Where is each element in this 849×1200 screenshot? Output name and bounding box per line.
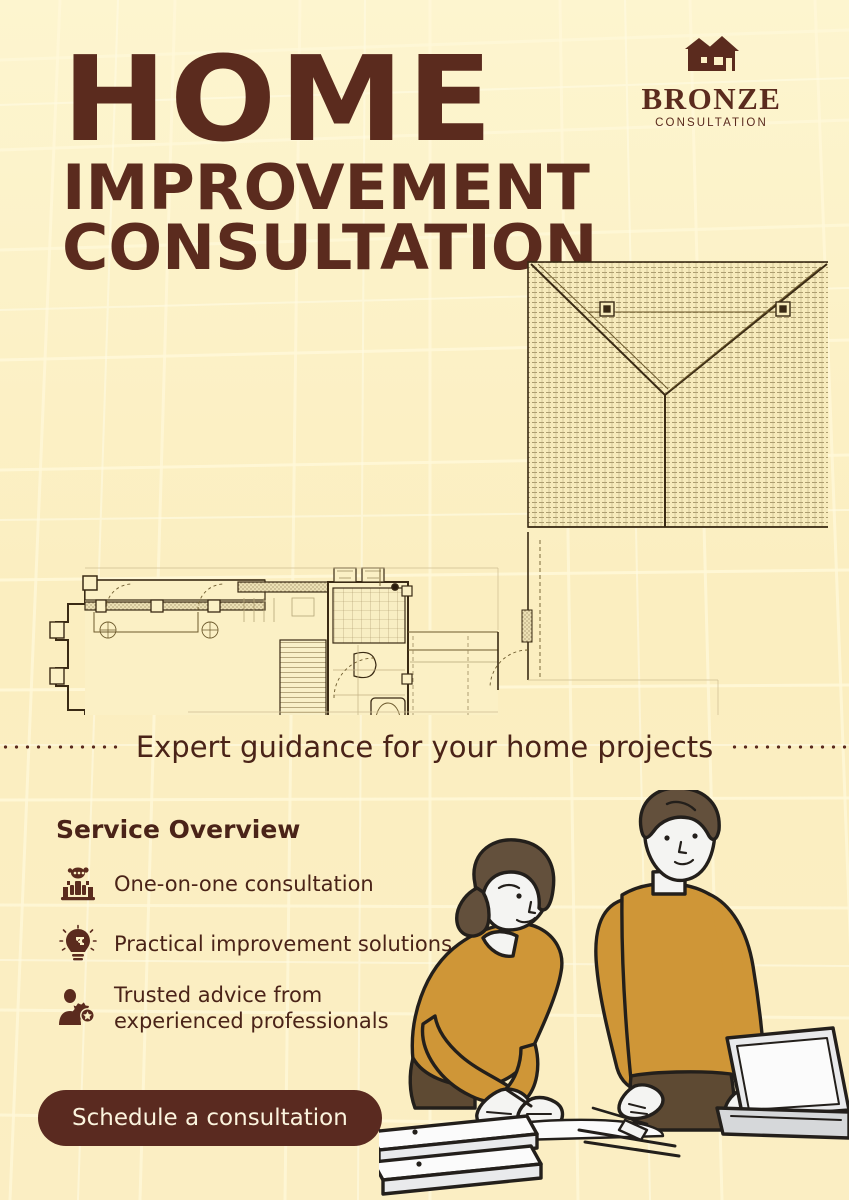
service-item-practical-solutions: Practical improvement solutions — [56, 922, 476, 966]
dotted-rule-right — [729, 745, 849, 749]
service-item-label: Practical improvement solutions — [114, 931, 452, 957]
service-item-label: One-on-one consultation — [114, 871, 374, 897]
service-overview-section: Service Overview — [56, 815, 476, 1051]
tagline-row: Expert guidance for your home projects — [0, 727, 849, 767]
service-item-one-on-one: One-on-one consultation — [56, 862, 476, 906]
dotted-rule-left — [0, 745, 120, 749]
headline-line-1: HOME — [62, 48, 618, 151]
person-award-badge-icon — [56, 986, 100, 1030]
lightbulb-puzzle-icon — [56, 922, 100, 966]
brand-logo: BRONZE CONSULTATION — [619, 33, 804, 130]
house-icon — [681, 33, 743, 77]
page-title: HOME IMPROVEMENT CONSULTATION — [62, 48, 587, 275]
tagline-text: Expert guidance for your home projects — [136, 730, 713, 764]
service-item-trusted-advice: Trusted advice from experienced professi… — [56, 982, 476, 1035]
headline-line-2: IMPROVEMENT — [62, 161, 597, 215]
poster-canvas: HOME IMPROVEMENT CONSULTATION BRONZE CON… — [0, 0, 849, 1200]
consultation-people-icon — [56, 862, 100, 906]
service-item-label: Trusted advice from experienced professi… — [114, 982, 389, 1035]
service-overview-title: Service Overview — [56, 815, 476, 844]
brand-name: BRONZE — [619, 83, 804, 114]
floorplan-drawing — [28, 250, 828, 715]
schedule-consultation-button[interactable]: Schedule a consultation — [38, 1090, 382, 1146]
brand-tagline: CONSULTATION — [619, 118, 804, 130]
